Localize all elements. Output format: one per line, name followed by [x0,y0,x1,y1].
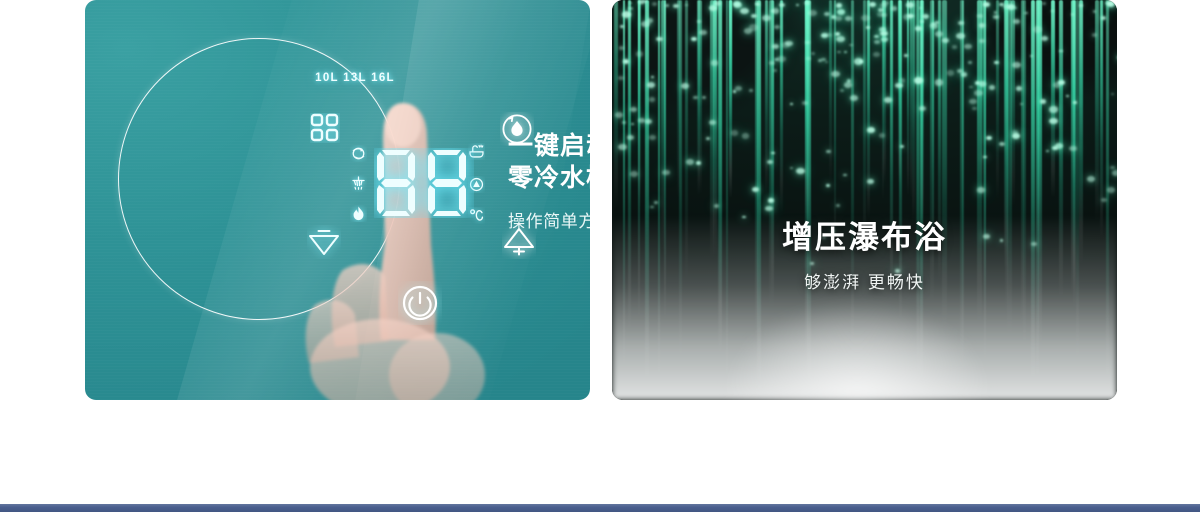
bottom-accent-bar [0,504,1200,512]
left-feature-card[interactable]: 10L 13L 16L [85,0,590,400]
right-headline: 增压瀑布浴 [612,212,1117,257]
menu-grid-icon[interactable] [310,113,340,143]
recirculation-icon [350,145,367,162]
temperature-digits [374,148,474,218]
product-feature-page: 10L 13L 16L [0,0,1200,515]
flame-icon [350,205,367,222]
flow-rate-label: 10L 13L 16L [290,72,420,84]
left-headline-line1: 一键启动 [508,130,590,162]
left-subtitle: 操作简单方便 [508,207,590,232]
power-button[interactable] [398,281,442,325]
water-streaks [612,0,1117,400]
shower-icon [350,175,367,192]
right-copy-block: 增压瀑布浴 够澎湃 更畅快 [612,212,1117,293]
control-panel-display: 10L 13L 16L [180,0,440,340]
right-subtitle: 够澎湃 更畅快 [612,268,1117,293]
left-headline-line2: 零冷水模式 [508,162,590,194]
right-feature-card[interactable]: 增压瀑布浴 够澎湃 更畅快 [612,0,1117,400]
decrease-button[interactable] [307,225,341,259]
left-copy-block: 一键启动 零冷水模式 操作简单方便 [508,130,590,232]
